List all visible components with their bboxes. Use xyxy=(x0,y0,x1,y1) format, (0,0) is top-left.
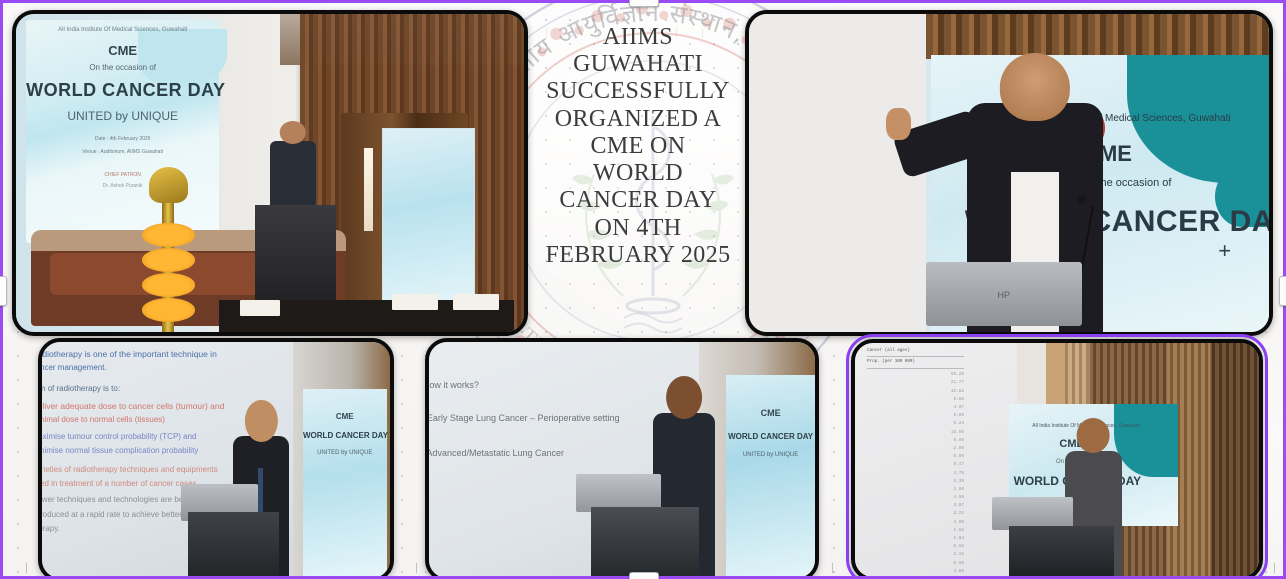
table-value: 9.47 xyxy=(867,461,964,469)
banner-cme: CME xyxy=(26,43,219,58)
slide-text-line-10: Newer techniques and technologies are be… xyxy=(42,495,194,504)
banner-patron-label: CHIEF PATRON xyxy=(26,172,219,178)
table-header-2: Prop. (per 100 000) xyxy=(867,359,964,369)
presentation-slide-canvas[interactable]: भारतीय आयुर्विज्ञान संस्थान, गुवाहाटी AL… xyxy=(0,0,1286,579)
banner-title: WORLD CANCER DAY xyxy=(26,80,219,101)
headline-line-2: GUWAHATI xyxy=(520,51,756,78)
photo-lung-cancer-lecture[interactable]: - How it works? in Early Stage Lung Canc… xyxy=(425,338,819,579)
table-value: 4.75 xyxy=(867,470,964,478)
table-header-1: Cancer (all ages) xyxy=(867,348,964,358)
banner-org-line: All India Institute Of Medical Sciences,… xyxy=(26,27,219,33)
table-value: 1.82 xyxy=(867,527,964,535)
slide-text-line-7: minimise normal tissue complication prob… xyxy=(42,446,198,455)
table-value: 5.95 xyxy=(867,453,964,461)
slide-text-line-3: Aim of radiotherapy is to: xyxy=(42,384,120,393)
photo-epidemiology-data-lecture[interactable]: Cancer (all ages) Prop. (per 100 000) 69… xyxy=(851,339,1263,579)
event-standee: CME WORLD CANCER DAY UNITED by UNIQUE xyxy=(303,389,387,578)
table-value: 4.59 xyxy=(867,494,964,502)
table-value: 6.56 xyxy=(867,543,964,551)
standee-title: WORLD CANCER DAY xyxy=(303,431,387,440)
podium xyxy=(188,512,278,578)
headline-line-1: AIIMS xyxy=(520,24,756,51)
headline-line-7: CANCER DAY xyxy=(520,187,756,214)
table-value: 3.97 xyxy=(867,502,964,510)
headline-line-5: CME ON xyxy=(520,133,756,160)
speaker-head xyxy=(666,376,702,419)
standee-cme: CME xyxy=(303,412,387,421)
podium xyxy=(591,507,699,578)
table-value: 69.28 xyxy=(867,371,964,379)
table-value: 5.86 xyxy=(867,396,964,404)
resize-handle-left[interactable] xyxy=(0,276,7,306)
laptop-hp xyxy=(926,262,1082,326)
banner-teal-blob xyxy=(1114,404,1178,477)
table-value: 5.89 xyxy=(867,412,964,420)
speaker-head xyxy=(1000,53,1070,122)
table-value: 9.24 xyxy=(867,420,964,428)
slide-text-line-11: introduced at a rapid rate to achieve be… xyxy=(42,510,182,519)
photo-auditorium-lamp-lighting[interactable]: All India Institute Of Medical Sciences,… xyxy=(12,10,528,336)
slide-text-line-1: - How it works? xyxy=(429,380,479,390)
slide-text-line-6: Maximise tumour control probability (TCP… xyxy=(42,432,197,441)
table-value: 21.77 xyxy=(867,379,964,387)
headline-line-9: FEBRUARY 2025 xyxy=(520,242,756,269)
resize-handle-top[interactable] xyxy=(629,0,659,7)
microphone-head xyxy=(1077,195,1086,204)
standee-title: WORLD CANCER DAY xyxy=(726,432,815,441)
event-standee: CME WORLD CANCER DAY UNITED by UNIQUE xyxy=(726,375,815,578)
banner-patron-name: Dr. Ashok Puranik xyxy=(26,183,219,189)
speaker-head xyxy=(1077,418,1110,453)
table-values: 69.2821.7742.825.864.975.899.2415.656.60… xyxy=(867,371,964,577)
slide-text-line-9: used in treatment of a number of cancer … xyxy=(42,479,199,488)
table-value: 2.04 xyxy=(867,535,964,543)
standee-cme: CME xyxy=(726,408,815,418)
slide-text-line-3: in Advanced/Metastatic Lung Cancer xyxy=(429,448,564,458)
table-value: 5.39 xyxy=(867,478,964,486)
banner-occasion: On the occasion of xyxy=(26,63,219,72)
banner-tagline: UNITED by UNIQUE xyxy=(26,109,219,123)
lamp-marigold-2 xyxy=(142,248,196,272)
headline-line-4: ORGANIZED A xyxy=(520,106,756,133)
name-card-2 xyxy=(392,294,438,310)
speaker-head xyxy=(245,400,277,442)
banner-date: Date : 4th February 2025 xyxy=(26,136,219,142)
headline-line-8: ON 4TH xyxy=(520,215,756,242)
slide-text-line-2: in Early Stage Lung Cancer – Perioperati… xyxy=(429,413,620,423)
statistics-column: Cancer (all ages) Prop. (per 100 000) 69… xyxy=(867,348,964,573)
table-value: 15.65 xyxy=(867,429,964,437)
podium xyxy=(1009,526,1114,577)
door-glass-left xyxy=(364,148,373,231)
table-value: 2.86 xyxy=(867,445,964,453)
lamp-marigold-1 xyxy=(142,223,196,247)
table-value: 4.97 xyxy=(867,404,964,412)
photo-radiotherapy-lecture[interactable]: Radiotherapy is one of the important tec… xyxy=(38,338,394,579)
ceiling-wood-strip xyxy=(926,14,1269,59)
ceremonial-lamp xyxy=(138,192,199,332)
resize-handle-right[interactable] xyxy=(1279,276,1286,306)
headline-line-3: SUCCESSFULLY xyxy=(520,78,756,105)
banner-teal-blob xyxy=(138,29,227,87)
table-value: 3.66 xyxy=(867,568,964,576)
table-value: 2.22 xyxy=(867,551,964,559)
slide-text-line-1: Radiotherapy is one of the important tec… xyxy=(42,349,217,359)
slide-text-line-12: therapy. xyxy=(42,524,60,533)
person-head xyxy=(280,121,307,144)
name-card-3 xyxy=(453,294,499,310)
table-value: 6.60 xyxy=(867,437,964,445)
speaker-hand-holding-glasses xyxy=(886,108,910,140)
headline-line-6: WORLD xyxy=(520,160,756,187)
slide-text-line-5: minimal dose to normal cells (tissues) xyxy=(42,415,165,424)
table-value: 0.56 xyxy=(867,560,964,568)
name-card-1 xyxy=(240,300,281,316)
secondary-standee xyxy=(382,128,475,321)
lamp-marigold-3 xyxy=(142,273,196,297)
banner-venue: Venue : Auditorium, AIIMS Guwahati xyxy=(26,149,219,155)
photo-speaker-pointing-at-podium[interactable]: All India Institute Of Medical Sciences,… xyxy=(745,10,1273,336)
table-value: 4.00 xyxy=(867,519,964,527)
standee-tagline: UNITED by UNIQUE xyxy=(726,452,815,458)
banner-plus-icon: + xyxy=(1218,238,1231,264)
lamp-finial xyxy=(149,167,188,203)
table-value: 1.81 xyxy=(867,576,964,577)
resize-handle-bottom[interactable] xyxy=(629,572,659,579)
slide-text-line-8: Varieties of radiotherapy techniques and… xyxy=(42,465,218,474)
page-title: AIIMSGUWAHATISUCCESSFULLYORGANIZED ACME … xyxy=(520,24,756,269)
table-value: 3.22 xyxy=(867,510,964,518)
slide-text-line-4: Deliver adequate dose to cancer cells (t… xyxy=(42,401,224,411)
table-value: 2.88 xyxy=(867,486,964,494)
slide-text-line-2: cancer management. xyxy=(42,363,107,372)
lamp-marigold-4 xyxy=(142,298,196,322)
standee-tagline: UNITED by UNIQUE xyxy=(303,450,387,456)
table-value: 42.82 xyxy=(867,388,964,396)
